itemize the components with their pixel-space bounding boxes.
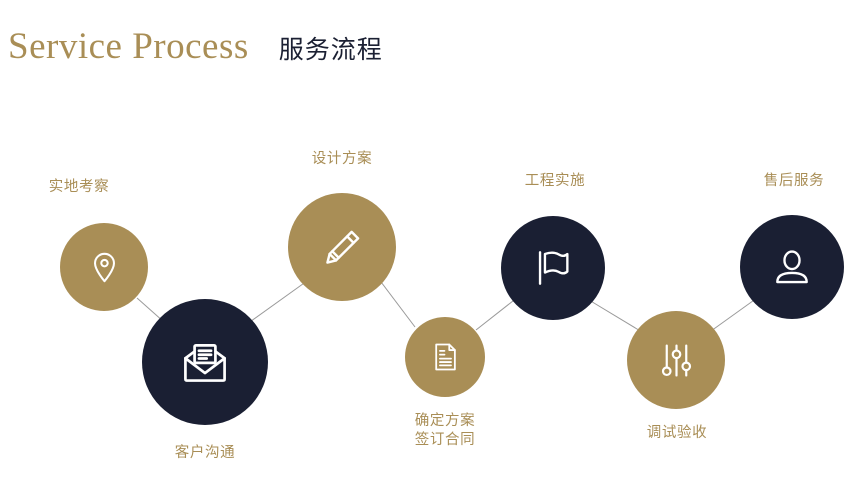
service-process-flow-diagram: Service Process 服务流程 实地考察 客户沟通 设计方案	[0, 0, 850, 480]
flow-connector-line	[711, 298, 757, 331]
flow-step-node-6[interactable]	[627, 311, 725, 409]
sliders-icon	[657, 341, 696, 380]
pencil-icon	[321, 226, 364, 269]
slide-header: Service Process 服务流程	[0, 28, 850, 88]
flow-step-node-7[interactable]	[740, 215, 844, 319]
user-person-icon	[771, 246, 813, 288]
flow-step-label-4: 确定方案 签订合同	[415, 412, 475, 450]
flow-step-label-1: 实地考察	[49, 178, 109, 197]
flag-icon	[532, 247, 574, 289]
page-title-cn: 服务流程	[279, 38, 383, 63]
flow-step-node-3[interactable]	[288, 193, 396, 301]
map-pin-icon	[87, 250, 122, 285]
flow-step-label-2: 客户沟通	[175, 444, 235, 463]
flow-step-node-5[interactable]	[501, 216, 605, 320]
flow-connector-line	[476, 297, 518, 330]
flow-step-node-4[interactable]	[405, 317, 485, 397]
flow-step-label-6: 调试验收	[647, 424, 707, 443]
flow-connector-line	[378, 278, 415, 327]
document-icon	[429, 341, 461, 373]
flow-step-label-7: 售后服务	[764, 172, 824, 191]
flow-step-node-2[interactable]	[142, 299, 268, 425]
flow-step-node-1[interactable]	[60, 223, 148, 311]
envelope-mail-icon	[180, 337, 230, 387]
flow-step-label-3: 设计方案	[312, 150, 372, 169]
flow-connector-line	[589, 300, 642, 332]
page-title-en: Service Process	[8, 28, 249, 65]
flow-step-label-5: 工程实施	[525, 172, 585, 191]
